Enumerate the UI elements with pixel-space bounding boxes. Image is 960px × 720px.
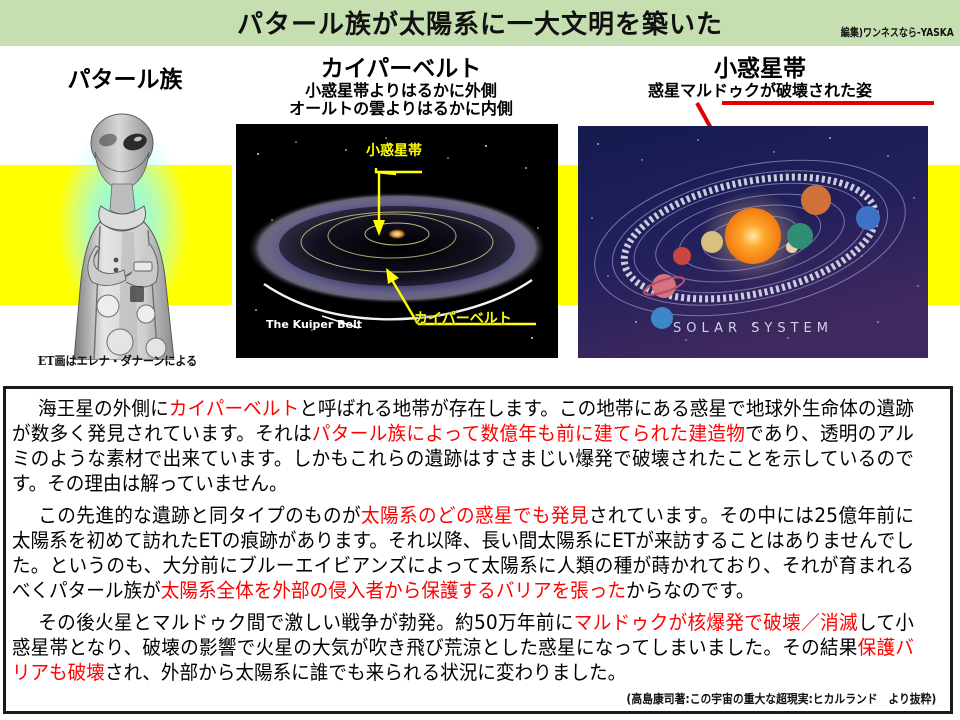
p3-seg3: され、外部から太陽系に誰でも来られる状況に変わりました。	[105, 661, 626, 684]
et-figure	[38, 110, 208, 360]
article-textbox: 海王星の外側にカイパーベルトと呼ばれる地帯が存在します。この地帯にある惑星で地球…	[3, 386, 953, 714]
p3-highlight-1: マルドゥクが核爆発で破壊／消滅	[574, 611, 858, 634]
asteroid-subtitle-1: 惑星マルドゥクが破壊された姿	[580, 82, 940, 100]
p2-highlight-1: 太陽系のどの惑星でも発見	[361, 504, 589, 527]
kuiper-subtitle-2: オールトの雲よりはるかに内側	[246, 100, 556, 118]
p2-seg1: この先進的な遺跡と同タイプのものが	[38, 504, 361, 527]
red-arrow-line	[722, 101, 934, 105]
panel-heading-kuiper: カイパーベルト 小惑星帯よりはるかに外側 オールトの雲よりはるかに内側	[246, 57, 556, 118]
p1-seg1: 海王星の外側に	[38, 397, 169, 420]
page-header: パタール族が太陽系に一大文明を築いた 編集)ワンネスなら-YASKA	[0, 0, 960, 49]
p3-seg1: その後火星とマルドゥク間で激しい戦争が勃発。約50万年前に	[38, 611, 574, 634]
paragraph-3: その後火星とマルドゥク間で激しい戦争が勃発。約50万年前にマルドゥクが核爆発で破…	[6, 611, 922, 686]
kuiper-belt-image: 小惑星帯 カイパーベルト The Kuiper Belt	[236, 124, 558, 358]
patar-heading-text: パタール族	[20, 68, 230, 93]
kuiper-image-label-english: The Kuiper Belt	[266, 318, 362, 331]
paragraph-2: この先進的な遺跡と同タイプのものが太陽系のどの惑星でも発見されています。その中に…	[6, 504, 922, 604]
alien-illustration	[38, 110, 208, 360]
solar-system-caption: SOLAR SYSTEM	[578, 321, 928, 336]
p2-seg3: からなのです。	[626, 579, 754, 602]
panel-heading-patar: パタール族	[20, 68, 230, 93]
asteroid-heading-text: 小惑星帯	[580, 57, 940, 82]
et-caption: ET画はエレナ・ダナーンによる	[19, 352, 217, 369]
kuiper-image-label-kuiper-belt: カイパーベルト	[414, 308, 512, 328]
editor-credit: 編集)ワンネスなら-YASKA	[841, 24, 954, 40]
p1-highlight-2: パタール族によって数億年も前に建てられた建造物	[312, 422, 745, 445]
page-title: パタール族が太陽系に一大文明を築いた	[0, 4, 960, 41]
solar-system-image: SOLAR SYSTEM	[578, 126, 928, 358]
yellow-band-middle	[556, 165, 578, 305]
source-citation: (高島康司著:この宇宙の重大な超現実:ヒカルランド より抜粋)	[626, 690, 936, 707]
kuiper-heading-text: カイパーベルト	[246, 57, 556, 82]
infographic-page: パタール族が太陽系に一大文明を築いた 編集)ワンネスなら-YASKA パタール族…	[0, 0, 960, 720]
kuiper-image-label-asteroid-belt: 小惑星帯	[366, 140, 422, 160]
p1-highlight-1: カイパーベルト	[169, 397, 299, 420]
p2-highlight-2: 太陽系全体を外部の侵入者から保護するバリアを張った	[161, 579, 626, 602]
yellow-band-right	[928, 165, 960, 305]
panel-heading-asteroid: 小惑星帯 惑星マルドゥクが破壊された姿	[580, 57, 940, 100]
paragraph-1: 海王星の外側にカイパーベルトと呼ばれる地帯が存在します。この地帯にある惑星で地球…	[6, 397, 922, 497]
kuiper-subtitle-1: 小惑星帯よりはるかに外側	[246, 82, 556, 100]
